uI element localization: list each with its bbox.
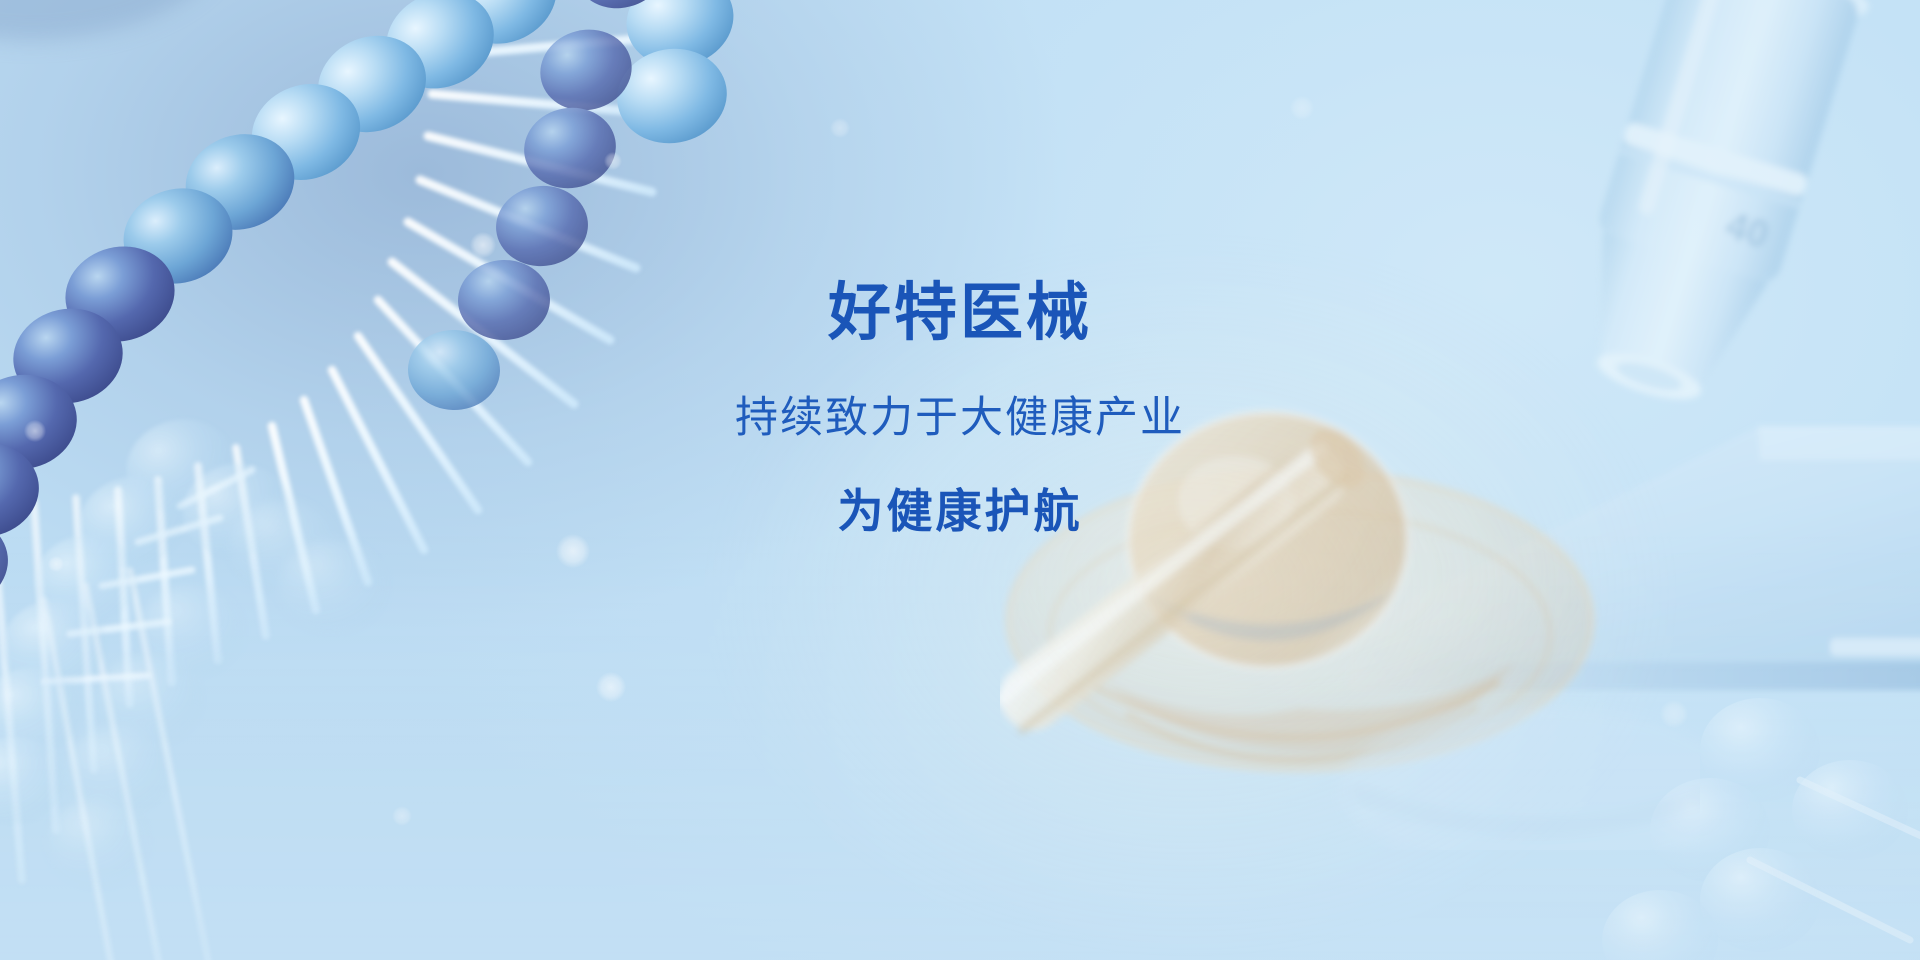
microscope-icon: 40: [1400, 0, 1920, 610]
hero-text-block: 好特医械 持续致力于大健康产业 为健康护航: [560, 282, 1360, 534]
hero-banner: 40: [0, 0, 1920, 960]
bokeh-dot-9: [1660, 700, 1688, 728]
bokeh-dot-8: [1290, 96, 1314, 120]
bokeh-dot-2: [604, 152, 622, 170]
bokeh-dot-3: [556, 534, 590, 568]
bokeh-dot-1: [470, 232, 496, 258]
hero-subtitle: 持续致力于大健康产业: [560, 397, 1360, 440]
microscope-stage: [1290, 390, 1920, 850]
bokeh-dot-5: [24, 420, 46, 442]
bokeh-dot-4: [596, 672, 626, 702]
bokeh-dot-6: [48, 556, 64, 572]
company-title: 好特医械: [560, 282, 1360, 345]
microscope-magnification-label: 40: [1721, 204, 1774, 257]
bokeh-dot-10: [392, 806, 412, 826]
dna-helix-secondary: [1460, 690, 1920, 960]
hero-slogan: 为健康护航: [560, 488, 1360, 534]
bokeh-dot-7: [830, 118, 850, 138]
